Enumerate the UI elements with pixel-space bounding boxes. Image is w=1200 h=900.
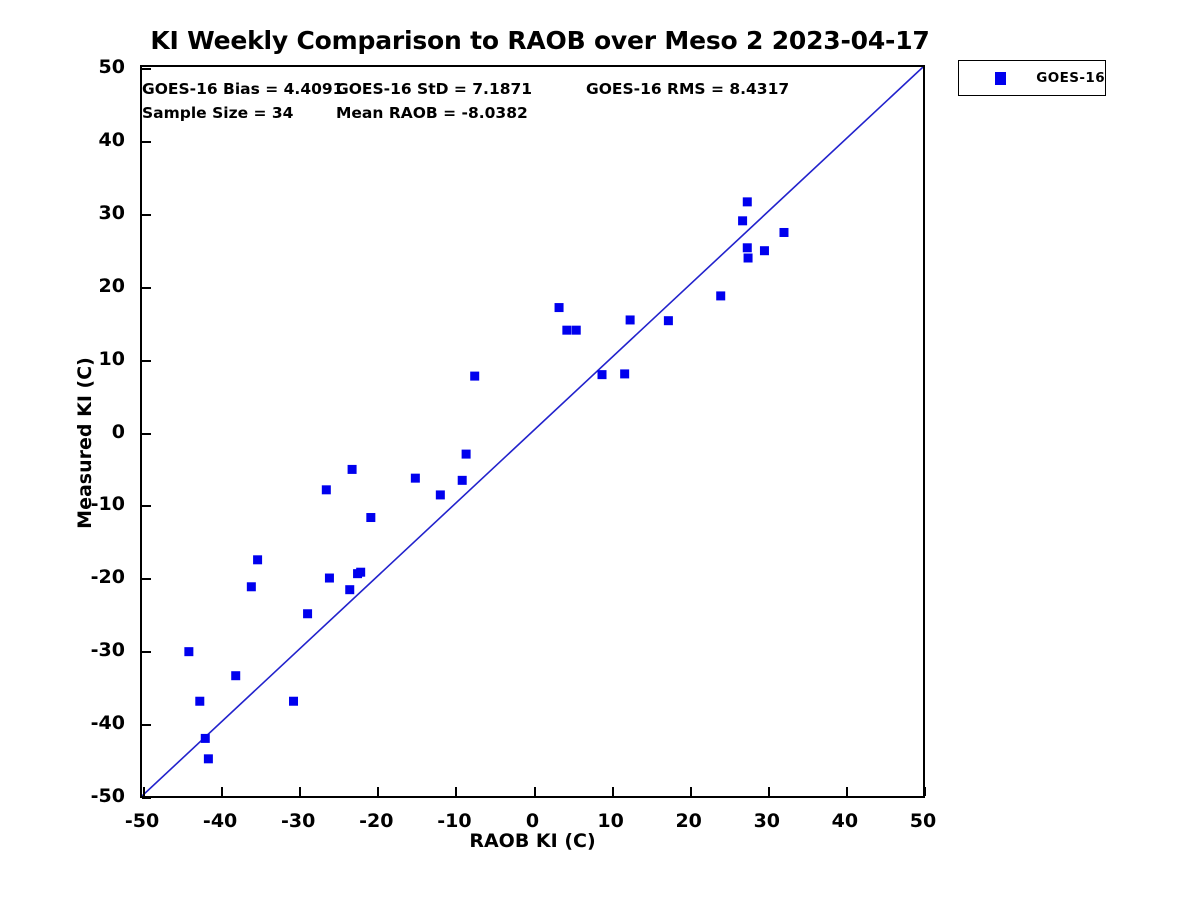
x-tick-0: [534, 787, 536, 796]
y-tick-label--20: -20: [5, 566, 125, 588]
y-tick-label-40: 40: [5, 129, 125, 151]
x-tick-label--10: -10: [437, 810, 471, 832]
y-tick-label-20: 20: [5, 275, 125, 297]
y-tick-label--50: -50: [5, 785, 125, 807]
x-tick-label-20: 20: [675, 810, 701, 832]
data-point: [184, 647, 193, 656]
x-tick-label-40: 40: [832, 810, 858, 832]
data-point: [626, 315, 635, 324]
page-title: KI Weekly Comparison to RAOB over Meso 2…: [140, 26, 940, 55]
x-tick--50: [143, 787, 145, 796]
y-tick--20: [142, 578, 151, 580]
y-axis-title: Measured KI (C): [74, 343, 96, 543]
one-to-one-reference-line: [142, 67, 923, 796]
y-tick--40: [142, 724, 151, 726]
y-tick-label-30: 30: [5, 202, 125, 224]
y-tick--50: [142, 797, 151, 799]
y-tick-40: [142, 141, 151, 143]
data-point: [572, 326, 581, 335]
x-tick-50: [924, 787, 926, 796]
x-tick--40: [221, 787, 223, 796]
data-point: [303, 609, 312, 618]
data-point: [620, 369, 629, 378]
x-tick-label-0: 0: [526, 810, 539, 832]
x-tick-label-50: 50: [910, 810, 936, 832]
data-point: [779, 228, 788, 237]
x-tick-30: [768, 787, 770, 796]
legend[interactable]: GOES-16: [958, 60, 1106, 96]
x-tick-20: [690, 787, 692, 796]
x-tick-label--20: -20: [359, 810, 393, 832]
data-point: [744, 253, 753, 262]
y-tick--10: [142, 505, 151, 507]
x-tick-label--30: -30: [281, 810, 315, 832]
plot-frame: [140, 65, 925, 798]
data-point: [289, 697, 298, 706]
y-tick-10: [142, 360, 151, 362]
x-tick--30: [299, 787, 301, 796]
x-tick-40: [846, 787, 848, 796]
data-point: [322, 485, 331, 494]
y-tick-30: [142, 214, 151, 216]
data-point: [195, 697, 204, 706]
y-tick-50: [142, 68, 151, 70]
chart-page: KI Weekly Comparison to RAOB over Meso 2…: [0, 0, 1200, 900]
y-tick--30: [142, 651, 151, 653]
y-tick-label--40: -40: [5, 712, 125, 734]
data-point: [760, 246, 769, 255]
x-tick-label--50: -50: [125, 810, 159, 832]
data-point: [458, 476, 467, 485]
x-tick--10: [455, 787, 457, 796]
data-point: [411, 474, 420, 483]
x-tick-10: [612, 787, 614, 796]
y-tick-label--30: -30: [5, 639, 125, 661]
plot-canvas: [142, 67, 923, 796]
y-tick-label-10: 10: [5, 348, 125, 370]
data-point: [555, 303, 564, 312]
x-tick-label--40: -40: [203, 810, 237, 832]
data-point: [743, 243, 752, 252]
data-point: [345, 585, 354, 594]
data-point: [743, 197, 752, 206]
data-point: [231, 671, 240, 680]
series-goes-16: [184, 197, 788, 763]
plot-area: [142, 67, 923, 796]
data-point: [664, 316, 673, 325]
data-point: [204, 754, 213, 763]
y-tick-0: [142, 433, 151, 435]
x-tick-label-10: 10: [597, 810, 623, 832]
x-tick-label-30: 30: [754, 810, 780, 832]
legend-label-goes-16: GOES-16: [1036, 70, 1105, 86]
data-point: [201, 734, 210, 743]
y-tick-label--10: -10: [5, 493, 125, 515]
data-point: [716, 291, 725, 300]
data-point: [348, 465, 357, 474]
legend-swatch-goes-16: [995, 72, 1006, 85]
x-axis-title: RAOB KI (C): [140, 830, 925, 852]
data-point: [253, 555, 262, 564]
data-point: [598, 370, 607, 379]
data-point: [366, 513, 375, 522]
data-point: [436, 490, 445, 499]
y-tick-20: [142, 287, 151, 289]
data-point: [247, 582, 256, 591]
y-tick-label-0: 0: [5, 421, 125, 443]
y-tick-label-50: 50: [5, 56, 125, 78]
data-point: [470, 372, 479, 381]
data-point: [356, 568, 365, 577]
data-point: [562, 326, 571, 335]
x-tick--20: [377, 787, 379, 796]
data-point: [325, 574, 334, 583]
data-point: [738, 216, 747, 225]
data-point: [462, 450, 471, 459]
